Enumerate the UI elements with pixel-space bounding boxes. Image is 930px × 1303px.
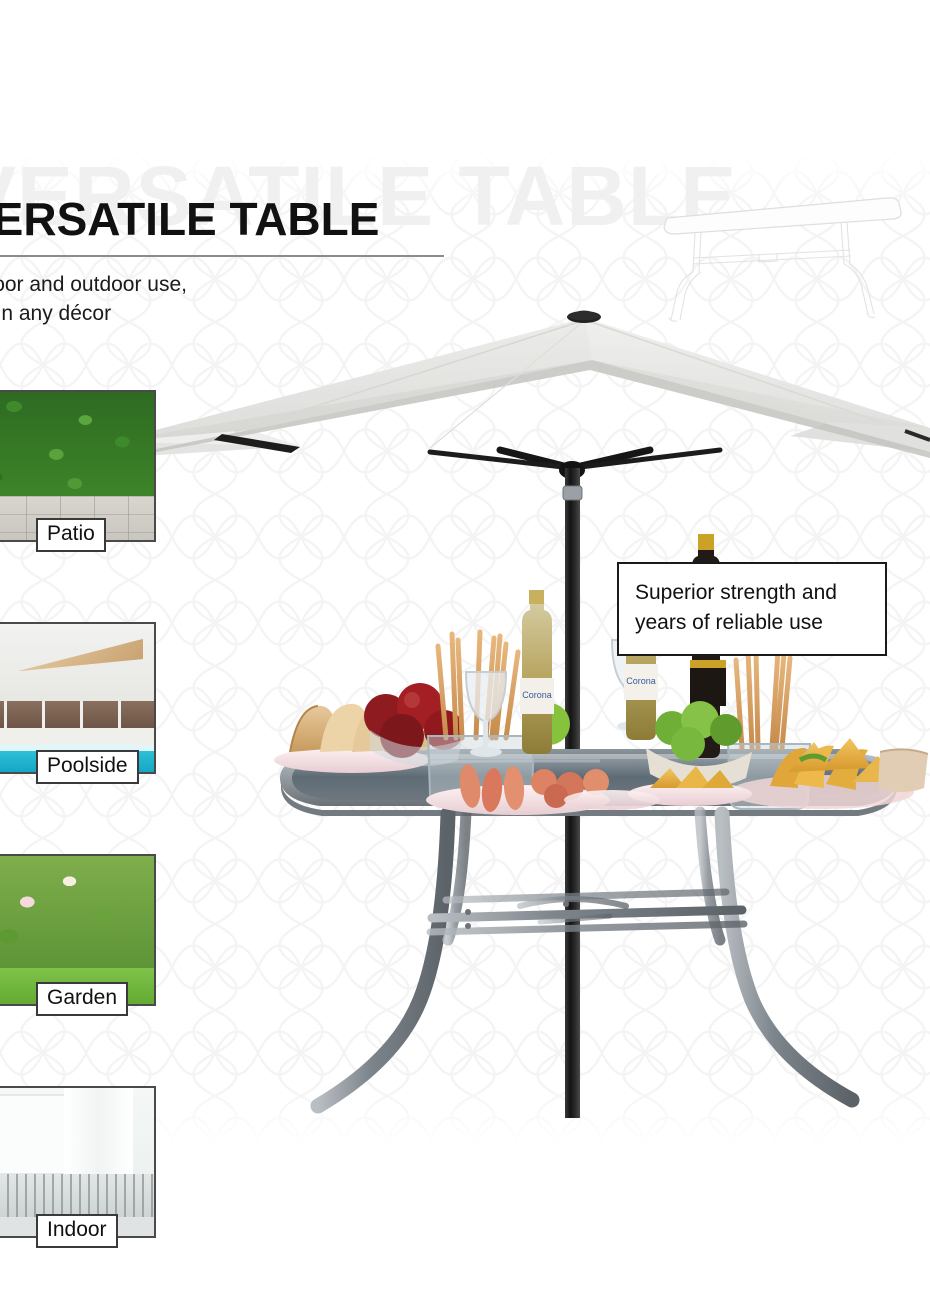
thumbnail-label-poolside: Poolside (36, 750, 139, 784)
beer-bottle-left: Corona (520, 590, 554, 754)
page-title: VERSATILE TABLE (0, 196, 522, 242)
thumbnail-poolside: Poolside (0, 622, 158, 812)
table-line-art-illustration (655, 172, 930, 322)
use-case-thumbnail-list: Patio Poolside (0, 390, 158, 1303)
umbrella-canopy (110, 311, 930, 461)
thumbnail-label-patio: Patio (36, 518, 106, 552)
thumbnail-indoor: Indoor (0, 1086, 158, 1276)
svg-text:Corona: Corona (626, 676, 656, 686)
svg-text:Corona: Corona (522, 690, 552, 700)
feature-callout-box: Superior strength and years of reliable … (617, 562, 887, 656)
thumbnail-patio: Patio (0, 390, 158, 580)
thumbnail-garden: Garden (0, 854, 158, 1044)
side-plate (564, 790, 660, 810)
thumbnail-label-indoor: Indoor (36, 1214, 118, 1248)
product-marketing-image: VERSATILE TABLE (0, 0, 930, 1303)
page-subtitle: Indoor and outdoor use, fits in any déco… (0, 271, 522, 329)
title-divider (0, 255, 444, 257)
thumbnail-label-garden: Garden (36, 982, 128, 1016)
cracker-bowl (878, 749, 928, 792)
heading-block: VERSATILE TABLE Indoor and outdoor use, … (0, 196, 522, 329)
table-frame (318, 812, 852, 1106)
